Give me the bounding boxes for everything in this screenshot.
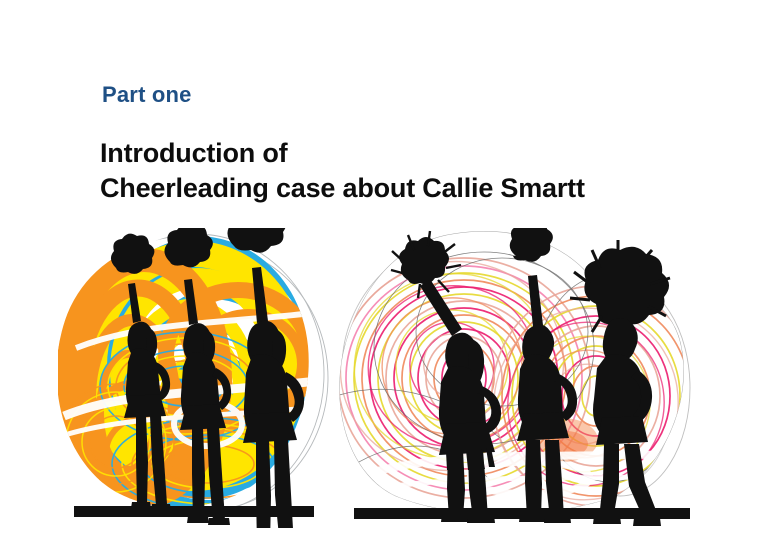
page-title-line-2: Cheerleading case about Callie Smartt — [100, 171, 585, 206]
cheerleaders-warm-illustration — [334, 228, 706, 528]
page-title-line-1: Introduction of — [100, 136, 585, 171]
cheerleaders-cool-illustration — [58, 228, 334, 528]
ground-bar-left — [74, 506, 314, 517]
page-title: Introduction of Cheerleading case about … — [100, 136, 585, 206]
slide-canvas: Part one Introduction of Cheerleading ca… — [0, 0, 760, 537]
part-label: Part one — [102, 82, 192, 108]
artwork-row — [0, 228, 760, 528]
ground-bar-right — [354, 508, 690, 519]
